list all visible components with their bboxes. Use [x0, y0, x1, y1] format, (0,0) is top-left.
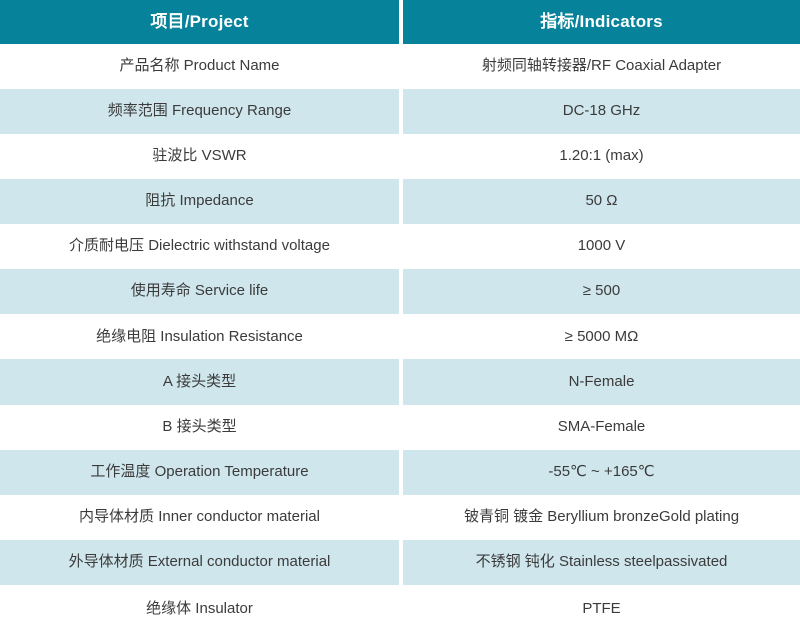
cell-indicator: 1.20:1 (max): [403, 134, 800, 179]
cell-project: B 接头类型: [0, 405, 399, 450]
table-row: 使用寿命 Service life≥ 500: [0, 269, 800, 314]
cell-indicator: 铍青铜 镀金 Beryllium bronzeGold plating: [403, 495, 800, 540]
table-row: 绝缘体 InsulatorPTFE: [0, 585, 800, 633]
cell-indicator: 不锈钢 钝化 Stainless steelpassivated: [403, 540, 800, 585]
table-header: 项目/Project 指标/Indicators: [0, 0, 800, 44]
table-row: 阻抗 Impedance50 Ω: [0, 179, 800, 224]
column-header-indicators: 指标/Indicators: [403, 0, 800, 44]
cell-project: 驻波比 VSWR: [0, 134, 399, 179]
cell-project: 频率范围 Frequency Range: [0, 89, 399, 134]
table-body: 产品名称 Product Name射频同轴转接器/RF Coaxial Adap…: [0, 44, 800, 633]
header-row: 项目/Project 指标/Indicators: [0, 0, 800, 44]
cell-project: 绝缘电阻 Insulation Resistance: [0, 314, 399, 359]
cell-indicator: 射频同轴转接器/RF Coaxial Adapter: [403, 44, 800, 89]
specification-table: 项目/Project 指标/Indicators 产品名称 Product Na…: [0, 0, 800, 633]
table-row: 工作温度 Operation Temperature-55℃ ~ +165℃: [0, 450, 800, 495]
cell-project: 工作温度 Operation Temperature: [0, 450, 399, 495]
cell-project: 使用寿命 Service life: [0, 269, 399, 314]
cell-project: 绝缘体 Insulator: [0, 585, 399, 633]
table-row: 频率范围 Frequency RangeDC-18 GHz: [0, 89, 800, 134]
column-header-project: 项目/Project: [0, 0, 399, 44]
cell-indicator: PTFE: [403, 585, 800, 633]
cell-indicator: -55℃ ~ +165℃: [403, 450, 800, 495]
cell-indicator: 50 Ω: [403, 179, 800, 224]
table-row: 驻波比 VSWR1.20:1 (max): [0, 134, 800, 179]
cell-project: A 接头类型: [0, 359, 399, 404]
cell-indicator: ≥ 500: [403, 269, 800, 314]
cell-indicator: N-Female: [403, 359, 800, 404]
cell-indicator: 1000 V: [403, 224, 800, 269]
table-row: 介质耐电压 Dielectric withstand voltage1000 V: [0, 224, 800, 269]
cell-project: 介质耐电压 Dielectric withstand voltage: [0, 224, 399, 269]
cell-project: 内导体材质 Inner conductor material: [0, 495, 399, 540]
table-row: 内导体材质 Inner conductor material铍青铜 镀金 Ber…: [0, 495, 800, 540]
cell-project: 外导体材质 External conductor material: [0, 540, 399, 585]
cell-project: 产品名称 Product Name: [0, 44, 399, 89]
table-row: A 接头类型N-Female: [0, 359, 800, 404]
table-row: 绝缘电阻 Insulation Resistance≥ 5000 MΩ: [0, 314, 800, 359]
cell-indicator: SMA-Female: [403, 405, 800, 450]
cell-indicator: ≥ 5000 MΩ: [403, 314, 800, 359]
table-row: 产品名称 Product Name射频同轴转接器/RF Coaxial Adap…: [0, 44, 800, 89]
cell-project: 阻抗 Impedance: [0, 179, 399, 224]
table-row: B 接头类型SMA-Female: [0, 405, 800, 450]
table-row: 外导体材质 External conductor material不锈钢 钝化 …: [0, 540, 800, 585]
cell-indicator: DC-18 GHz: [403, 89, 800, 134]
